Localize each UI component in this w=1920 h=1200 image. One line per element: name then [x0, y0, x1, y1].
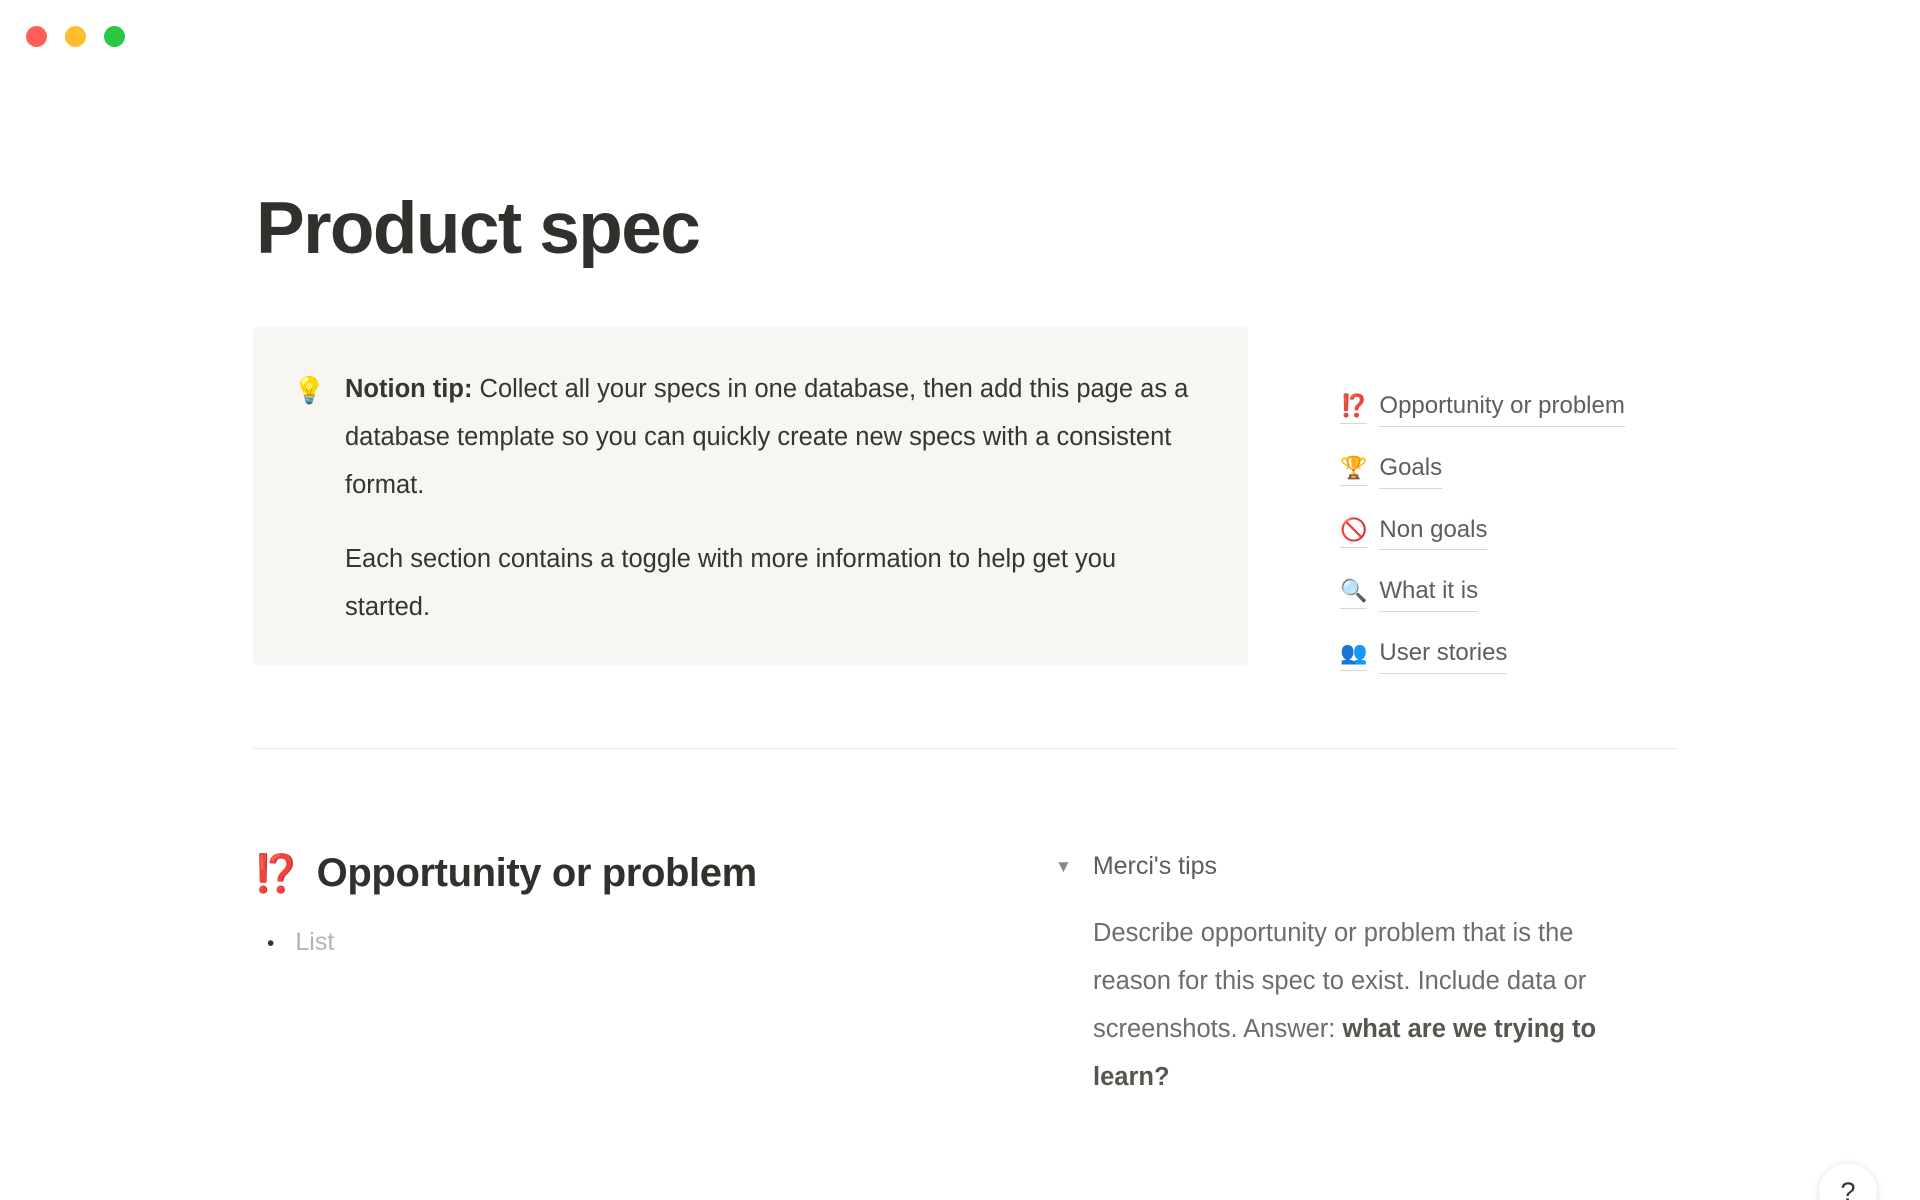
merci-tips-toggle[interactable]: ▼ Merci's tips — [1055, 850, 1677, 883]
table-of-contents: ⁉️ Opportunity or problem 🏆 Goals 🚫 Non … — [1340, 392, 1740, 701]
opportunity-or-problem-section: ⁉️ Opportunity or problem • List ▼ Merci… — [253, 850, 1677, 1101]
toc-item-opportunity-or-problem[interactable]: ⁉️ Opportunity or problem — [1340, 392, 1625, 427]
toc-item-what-it-is[interactable]: 🔍 What it is — [1340, 577, 1478, 612]
maximize-window-button[interactable] — [104, 26, 125, 47]
chevron-down-icon[interactable]: ▼ — [1055, 858, 1072, 875]
notion-tip-callout: 💡 Notion tip: Collect all your specs in … — [253, 327, 1248, 665]
window-titlebar — [0, 0, 1920, 62]
trophy-icon: 🏆 — [1340, 458, 1367, 486]
section-right-column: ▼ Merci's tips Describe opportunity or p… — [1023, 850, 1677, 1101]
app-root: Product spec 💡 Notion tip: Collect all y… — [0, 0, 1920, 1200]
toc-item-non-goals[interactable]: 🚫 Non goals — [1340, 516, 1487, 551]
callout-paragraph-2: Each section contains a toggle with more… — [345, 535, 1208, 631]
help-button[interactable]: ? — [1818, 1162, 1878, 1200]
toc-item-goals[interactable]: 🏆 Goals — [1340, 454, 1442, 489]
section-divider — [253, 748, 1677, 749]
toc-item-label: Opportunity or problem — [1379, 392, 1624, 427]
prohibited-icon: 🚫 — [1340, 520, 1367, 548]
toc-item-label: What it is — [1379, 577, 1478, 612]
page-content: Product spec 💡 Notion tip: Collect all y… — [0, 62, 1920, 1200]
page-title: Product spec — [256, 191, 699, 268]
traffic-light-group — [26, 26, 125, 47]
toc-item-label: User stories — [1379, 639, 1507, 674]
callout-paragraph-1-text: Collect all your specs in one database, … — [345, 375, 1188, 499]
section-bullet-list: • List — [253, 924, 1023, 962]
toc-item-user-stories[interactable]: 👥 User stories — [1340, 639, 1507, 674]
exclamation-question-icon: ⁉️ — [253, 852, 299, 896]
toc-item-label: Non goals — [1379, 516, 1487, 551]
callout-text-body: Notion tip: Collect all your specs in on… — [341, 365, 1208, 631]
busts-in-silhouette-icon: 👥 — [1340, 643, 1367, 671]
minimize-window-button[interactable] — [65, 26, 86, 47]
close-window-button[interactable] — [26, 26, 47, 47]
callout-paragraph-1-label: Notion tip: — [345, 375, 472, 403]
list-item-label: List — [295, 924, 334, 962]
lightbulb-icon: 💡 — [293, 365, 341, 631]
callout-paragraph-1: Notion tip: Collect all your specs in on… — [345, 365, 1208, 509]
bullet-dot-icon: • — [267, 933, 274, 954]
section-heading-label: Opportunity or problem — [317, 850, 757, 897]
toggle-title: Merci's tips — [1093, 850, 1217, 883]
section-heading: ⁉️ Opportunity or problem — [253, 850, 1023, 897]
exclamation-question-icon: ⁉️ — [1340, 396, 1367, 424]
magnifying-glass-icon: 🔍 — [1340, 581, 1367, 609]
toc-item-label: Goals — [1379, 454, 1442, 489]
section-left-column: ⁉️ Opportunity or problem • List — [253, 850, 1023, 1101]
list-item[interactable]: • List — [253, 924, 1023, 962]
merci-tips-body: Describe opportunity or problem that is … — [1055, 909, 1655, 1101]
